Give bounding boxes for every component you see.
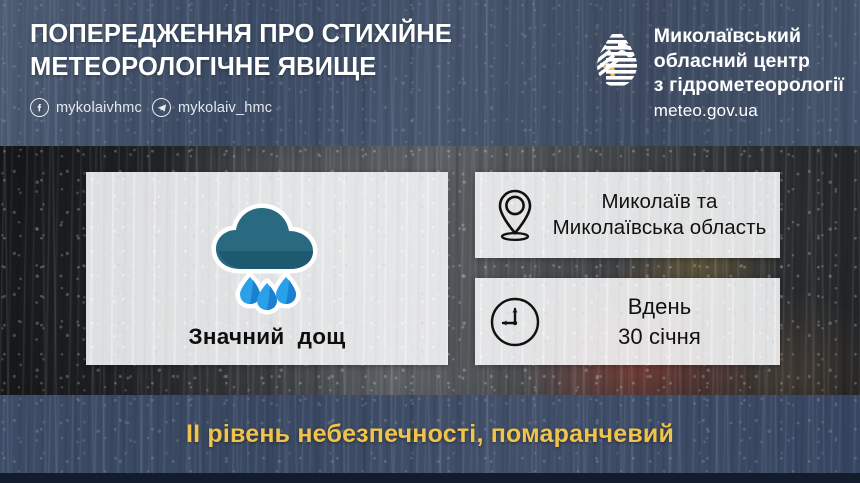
phenomenon-label: Значний дощ (188, 324, 345, 350)
clock-icon (489, 296, 541, 348)
organization-name: Миколаївський обласний центр з гідромете… (654, 24, 844, 123)
rain-cloud-icon (204, 193, 330, 320)
water-droplet-logo-icon (593, 26, 641, 90)
phenomenon-card: Значний дощ (86, 172, 448, 365)
organization-logo: Миколаївський обласний центр з гідромете… (593, 0, 860, 146)
facebook-icon (30, 98, 49, 117)
footer-strip (0, 473, 860, 483)
location-pin-icon (489, 187, 541, 243)
facebook-handle: mykolaivhmc (56, 100, 142, 116)
social-link-telegram[interactable]: mykolaiv_hmc (152, 98, 272, 117)
organization-website[interactable]: meteo.gov.ua (654, 100, 844, 123)
danger-level-banner: II рівень небезпечності, помаранчевий (0, 395, 860, 473)
header-band: ПОПЕРЕДЖЕННЯ ПРО СТИХІЙНЕ МЕТЕОРОЛОГІЧНЕ… (0, 0, 860, 146)
social-links: mykolaivhmc mykolaiv_hmc (30, 98, 593, 117)
time-card: Вдень 30 січня (475, 278, 780, 365)
telegram-handle: mykolaiv_hmc (178, 100, 272, 116)
telegram-icon (152, 98, 171, 117)
region-line-2: Миколаївська область (547, 215, 772, 241)
region-text: Миколаїв та Миколаївська область (547, 189, 772, 241)
logo-line-1: Миколаївський (654, 24, 844, 49)
weather-warning-poster: ПОПЕРЕДЖЕННЯ ПРО СТИХІЙНЕ МЕТЕОРОЛОГІЧНЕ… (0, 0, 860, 483)
logo-line-2: обласний центр (654, 49, 844, 74)
page-title: ПОПЕРЕДЖЕННЯ ПРО СТИХІЙНЕ МЕТЕОРОЛОГІЧНЕ… (30, 18, 530, 84)
region-line-1: Миколаїв та (602, 190, 718, 213)
time-text: Вдень 30 січня (547, 292, 772, 350)
time-line-1: Вдень (628, 294, 692, 319)
danger-level-text: II рівень небезпечності, помаранчевий (186, 420, 674, 449)
social-link-facebook[interactable]: mykolaivhmc (30, 98, 142, 117)
header-left-block: ПОПЕРЕДЖЕННЯ ПРО СТИХІЙНЕ МЕТЕОРОЛОГІЧНЕ… (0, 0, 593, 146)
region-card: Миколаїв та Миколаївська область (475, 172, 780, 258)
logo-line-3: з гідрометеорології (654, 73, 844, 98)
time-line-2: 30 січня (547, 322, 772, 351)
